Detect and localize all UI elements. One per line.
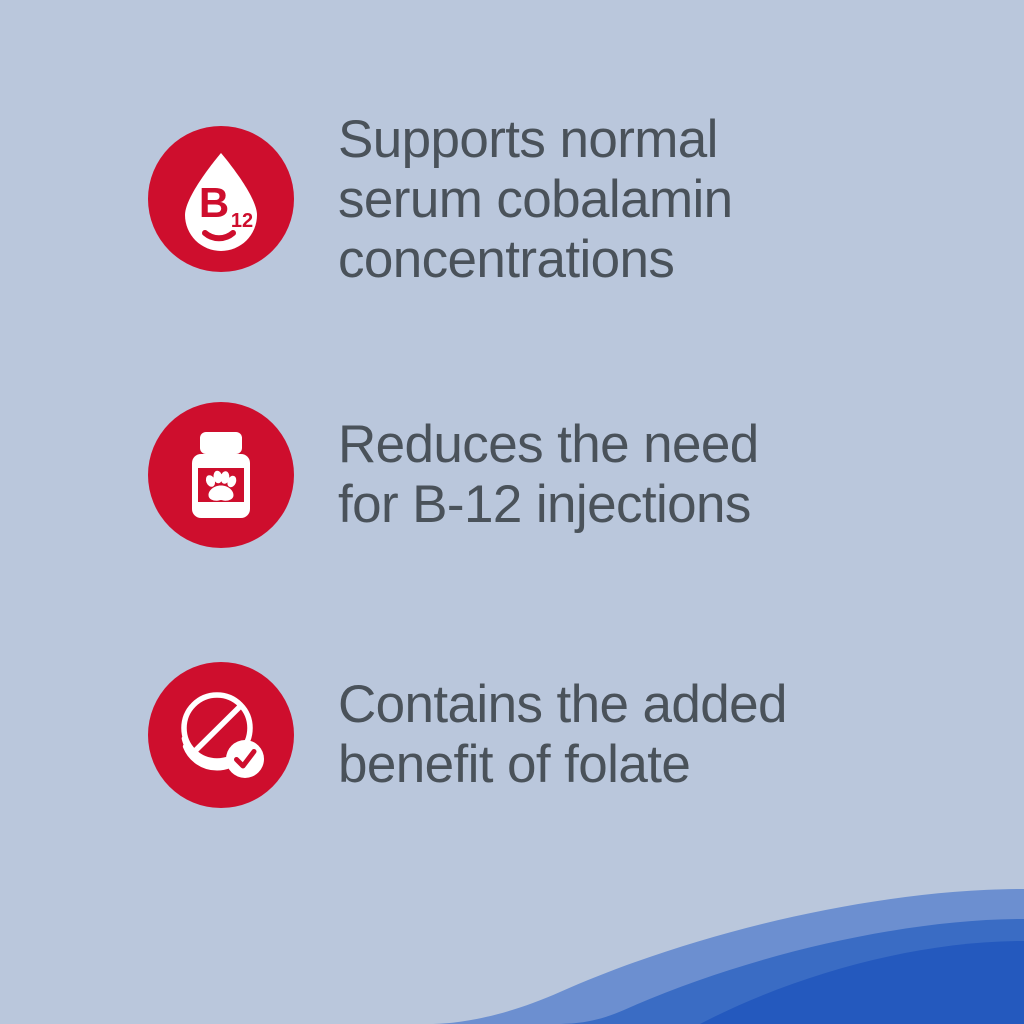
svg-text:12: 12 [231, 210, 253, 232]
benefit-icon-badge [148, 662, 294, 808]
wave-band-dark [700, 941, 1024, 1024]
benefit-icon-badge: B 12 [148, 126, 294, 272]
benefit-row: Contains the added benefit of folate [0, 662, 1024, 808]
wave-band-light [430, 889, 1024, 1024]
benefit-text: Reduces the need for B-12 injections [338, 415, 1024, 535]
svg-text:B: B [199, 179, 229, 226]
benefit-row: B 12 Supports normal serum cobalamin con… [0, 108, 1024, 290]
benefit-icon-badge [148, 402, 294, 548]
benefits-graphic: B 12 Supports normal serum cobalamin con… [0, 0, 1024, 1024]
blood-drop-b12-icon: B 12 [169, 147, 273, 251]
wave-band-mid [548, 919, 1024, 1024]
benefit-text: Supports normal serum cobalamin concentr… [338, 110, 1024, 290]
pill-bottle-paw-icon [171, 425, 271, 525]
tablet-check-folate-icon [169, 683, 273, 787]
benefit-text: Contains the added benefit of folate [338, 675, 1024, 795]
benefit-row: Reduces the need for B-12 injections [0, 402, 1024, 548]
